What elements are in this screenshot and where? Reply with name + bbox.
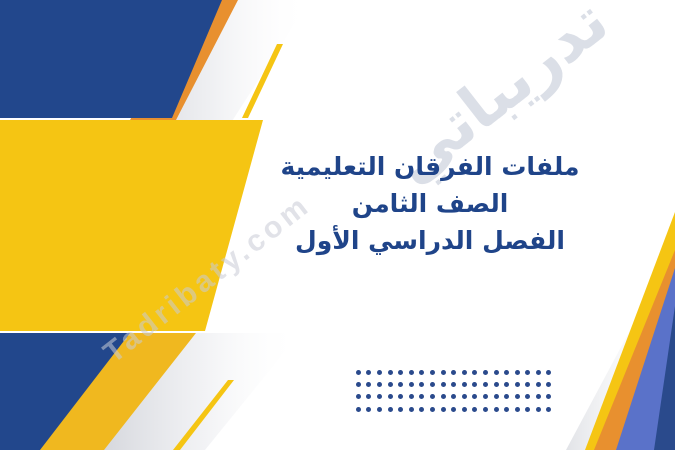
grid-dot — [398, 394, 403, 399]
grid-dot — [536, 382, 541, 387]
grid-dot — [366, 382, 371, 387]
grid-dot — [525, 370, 530, 375]
grid-dot — [419, 382, 424, 387]
title-line-3: الفصل الدراسي الأول — [250, 222, 610, 259]
grid-dot — [441, 394, 446, 399]
grid-dot — [462, 370, 467, 375]
grid-dot — [388, 370, 393, 375]
grid-dot — [525, 394, 530, 399]
grid-dot — [451, 394, 456, 399]
grid-dot — [504, 382, 509, 387]
grid-dot — [462, 394, 467, 399]
grid-dot — [504, 394, 509, 399]
grid-dot — [430, 407, 435, 412]
grid-dot — [462, 382, 467, 387]
grid-dot — [419, 407, 424, 412]
grid-dot — [366, 370, 371, 375]
grid-dot — [409, 370, 414, 375]
grid-dot — [356, 394, 361, 399]
grid-dot — [398, 382, 403, 387]
grid-dot — [515, 394, 520, 399]
grid-dot — [504, 370, 509, 375]
grid-dot — [356, 407, 361, 412]
poster-title-block: ملفات الفرقان التعليمية الصف الثامن الفص… — [250, 148, 610, 259]
grid-dot — [377, 370, 382, 375]
grid-dot — [388, 382, 393, 387]
grid-dot — [462, 407, 467, 412]
grid-dot — [472, 394, 477, 399]
grid-dot — [483, 407, 488, 412]
grid-dot — [430, 382, 435, 387]
grid-dot — [504, 407, 509, 412]
grid-dot — [546, 394, 551, 399]
grid-dot — [494, 370, 499, 375]
grid-dot — [366, 394, 371, 399]
grid-dot — [377, 382, 382, 387]
grid-dot — [398, 407, 403, 412]
poster-canvas: تدريباتي Tadribaty.com ملفات الفرقان الت… — [0, 0, 675, 450]
grid-dot — [546, 407, 551, 412]
grid-dot — [536, 407, 541, 412]
grid-dot — [430, 394, 435, 399]
grid-dot — [494, 394, 499, 399]
grid-dot — [451, 407, 456, 412]
grid-dot — [472, 370, 477, 375]
grid-dot — [472, 382, 477, 387]
grid-dot — [546, 370, 551, 375]
title-line-2: الصف الثامن — [250, 185, 610, 222]
grid-dot — [356, 370, 361, 375]
grid-dot — [536, 370, 541, 375]
grid-dot — [430, 370, 435, 375]
grid-dot — [451, 382, 456, 387]
grid-dot — [409, 382, 414, 387]
grid-dot — [515, 370, 520, 375]
grid-dot — [441, 382, 446, 387]
grid-dot — [536, 394, 541, 399]
grid-dot — [451, 370, 456, 375]
grid-dot — [377, 407, 382, 412]
grid-dot — [377, 394, 382, 399]
grid-dot — [494, 382, 499, 387]
grid-dot — [366, 407, 371, 412]
grid-dot — [388, 394, 393, 399]
grid-dot — [441, 370, 446, 375]
grid-dot — [546, 382, 551, 387]
dot-grid-ornament — [353, 366, 554, 416]
grid-dot — [419, 370, 424, 375]
grid-dot — [441, 407, 446, 412]
grid-dot — [483, 394, 488, 399]
title-line-1: ملفات الفرقان التعليمية — [250, 148, 610, 185]
grid-dot — [483, 370, 488, 375]
grid-dot — [525, 407, 530, 412]
grid-dot — [388, 407, 393, 412]
grid-dot — [525, 382, 530, 387]
grid-dot — [419, 394, 424, 399]
grid-dot — [483, 382, 488, 387]
grid-dot — [515, 382, 520, 387]
grid-dot — [472, 407, 477, 412]
grid-dot — [356, 382, 361, 387]
grid-dot — [398, 370, 403, 375]
grid-dot — [515, 407, 520, 412]
grid-dot — [494, 407, 499, 412]
left-yellow-parallelogram — [0, 120, 263, 331]
grid-dot — [409, 407, 414, 412]
grid-dot — [409, 394, 414, 399]
